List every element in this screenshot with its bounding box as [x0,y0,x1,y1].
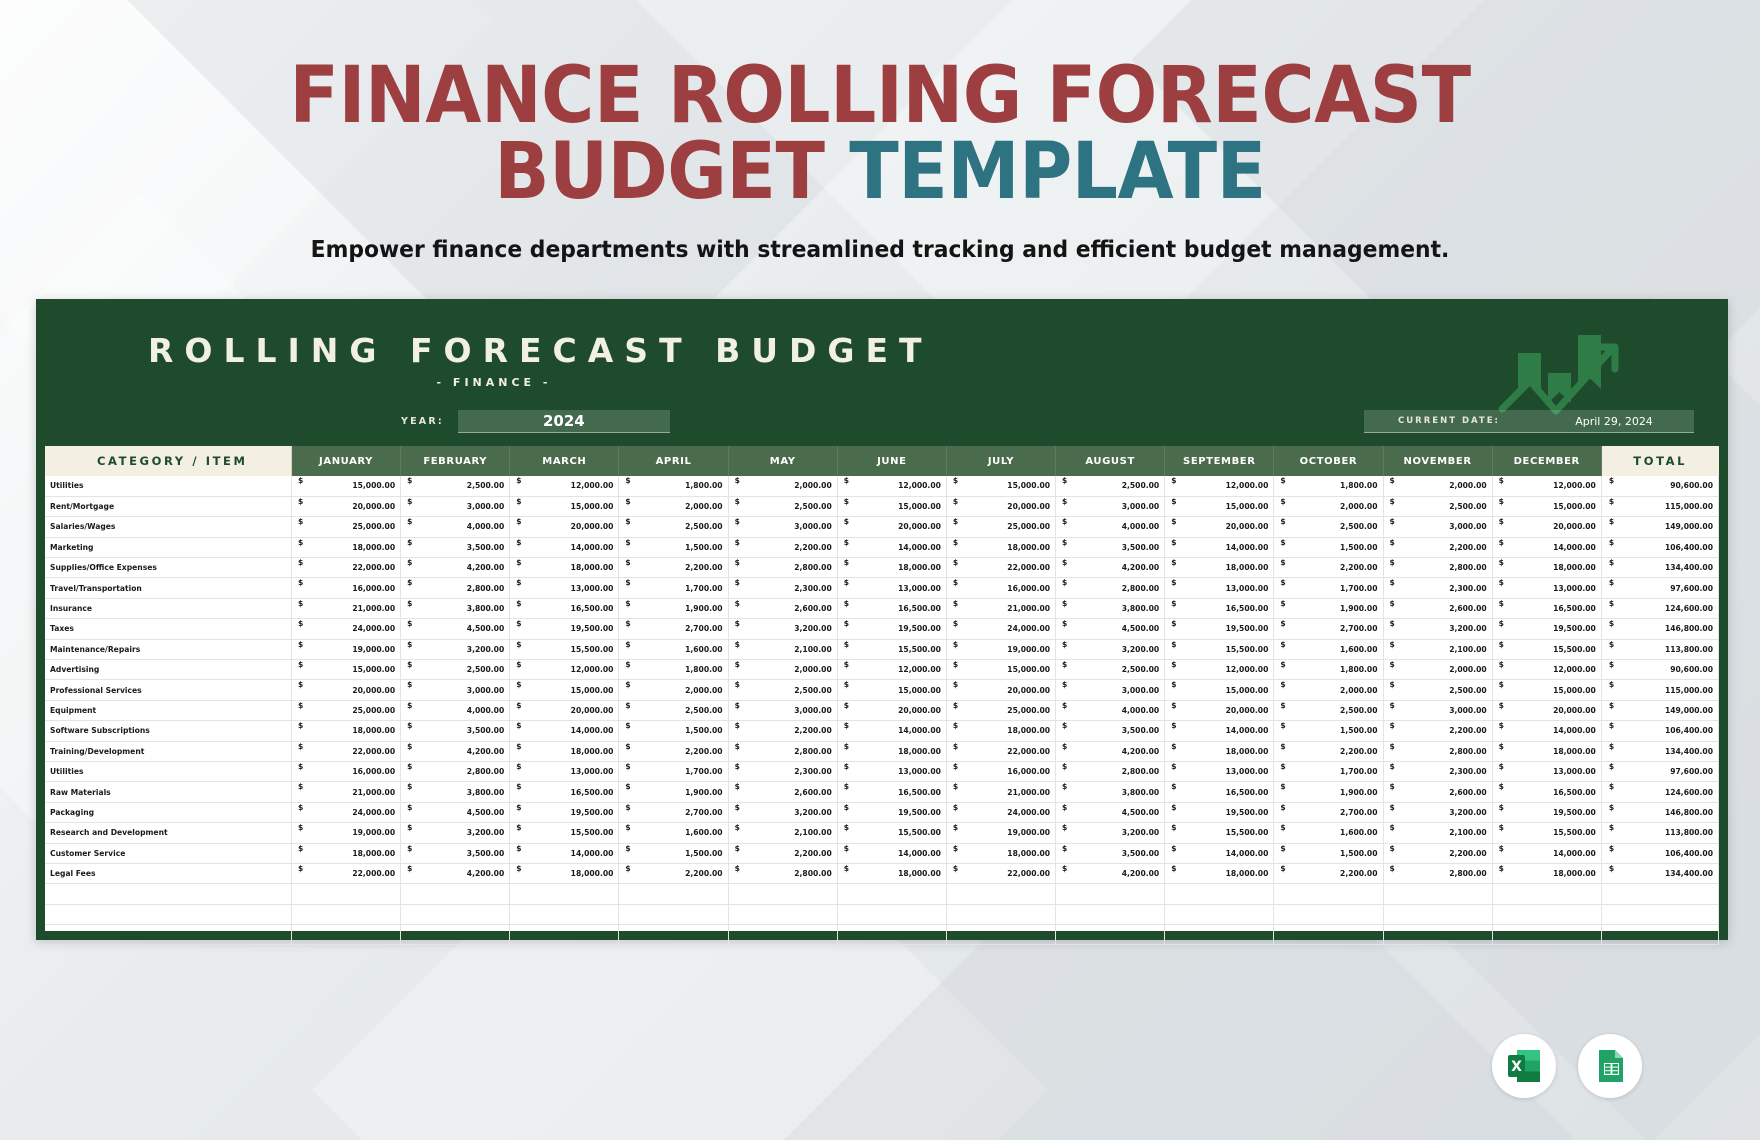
cell-amount[interactable]: $3,500.00 [401,537,510,557]
cell-amount[interactable]: $16,500.00 [1492,598,1601,618]
cell-amount[interactable]: $2,600.00 [728,782,837,802]
cell-total[interactable]: $90,600.00 [1601,660,1718,680]
cell-amount[interactable]: $2,300.00 [728,578,837,598]
cell-amount[interactable]: $16,500.00 [1492,782,1601,802]
cell-amount[interactable]: $25,000.00 [946,700,1055,720]
cell-amount[interactable]: $15,000.00 [837,680,946,700]
table-row[interactable]: Customer Service$18,000.00$3,500.00$14,0… [45,843,1719,863]
cell-amount[interactable]: $2,500.00 [728,680,837,700]
cell-amount[interactable]: $14,000.00 [1165,843,1274,863]
cell-amount[interactable]: $2,100.00 [728,639,837,659]
cell-total[interactable]: $106,400.00 [1601,721,1718,741]
table-row[interactable]: Utilities$16,000.00$2,800.00$13,000.00$1… [45,761,1719,781]
cell-amount[interactable]: $2,000.00 [728,476,837,496]
cell-empty[interactable] [1056,904,1165,924]
cell-empty[interactable] [510,904,619,924]
table-row-empty[interactable] [45,925,1719,945]
cell-amount[interactable]: $3,800.00 [401,782,510,802]
cell-amount[interactable]: $15,000.00 [1492,680,1601,700]
cell-amount[interactable]: $15,000.00 [291,476,400,496]
cell-amount[interactable]: $4,200.00 [1056,558,1165,578]
cell-amount[interactable]: $2,500.00 [1383,680,1492,700]
cell-amount[interactable]: $19,500.00 [1165,802,1274,822]
cell-amount[interactable]: $2,200.00 [619,863,728,883]
cell-amount[interactable]: $2,200.00 [1274,863,1383,883]
cell-amount[interactable]: $12,000.00 [837,476,946,496]
cell-amount[interactable]: $1,600.00 [1274,639,1383,659]
cell-empty[interactable] [291,884,400,904]
cell-empty[interactable] [510,925,619,945]
cell-amount[interactable]: $22,000.00 [946,863,1055,883]
cell-total[interactable]: $146,800.00 [1601,619,1718,639]
current-date-value[interactable]: April 29, 2024 [1534,415,1694,428]
cell-amount[interactable]: $4,500.00 [401,619,510,639]
column-header-july[interactable]: JULY [946,446,1055,476]
cell-amount[interactable]: $1,900.00 [619,598,728,618]
cell-empty[interactable] [401,884,510,904]
cell-amount[interactable]: $3,000.00 [1383,517,1492,537]
cell-amount[interactable]: $20,000.00 [837,700,946,720]
cell-total[interactable]: $134,400.00 [1601,741,1718,761]
cell-empty[interactable] [728,884,837,904]
cell-empty[interactable] [1274,904,1383,924]
cell-amount[interactable]: $3,800.00 [1056,782,1165,802]
cell-amount[interactable]: $14,000.00 [1492,537,1601,557]
cell-amount[interactable]: $15,000.00 [510,496,619,516]
cell-amount[interactable]: $15,500.00 [1492,823,1601,843]
cell-amount[interactable]: $22,000.00 [946,741,1055,761]
cell-amount[interactable]: $16,500.00 [1165,782,1274,802]
cell-amount[interactable]: $16,500.00 [837,782,946,802]
cell-amount[interactable]: $1,900.00 [1274,598,1383,618]
cell-amount[interactable]: $1,500.00 [619,537,728,557]
cell-amount[interactable]: $4,200.00 [401,558,510,578]
cell-amount[interactable]: $14,000.00 [1165,721,1274,741]
cell-empty[interactable] [946,904,1055,924]
cell-amount[interactable]: $2,500.00 [1056,660,1165,680]
cell-empty[interactable] [401,904,510,924]
cell-amount[interactable]: $24,000.00 [291,619,400,639]
cell-empty[interactable] [837,925,946,945]
cell-amount[interactable]: $13,000.00 [1165,578,1274,598]
cell-amount[interactable]: $1,700.00 [619,578,728,598]
cell-amount[interactable]: $2,800.00 [401,761,510,781]
cell-total[interactable]: $97,600.00 [1601,578,1718,598]
cell-amount[interactable]: $18,000.00 [1165,863,1274,883]
table-row[interactable]: Professional Services$20,000.00$3,000.00… [45,680,1719,700]
table-row[interactable]: Legal Fees$22,000.00$4,200.00$18,000.00$… [45,863,1719,883]
cell-category[interactable]: Utilities [45,476,291,496]
cell-amount[interactable]: $1,500.00 [619,843,728,863]
google-sheets-icon[interactable] [1578,1034,1642,1098]
cell-empty[interactable] [1056,925,1165,945]
cell-amount[interactable]: $25,000.00 [946,517,1055,537]
cell-category[interactable]: Customer Service [45,843,291,863]
cell-empty[interactable] [45,904,291,924]
cell-amount[interactable]: $2,800.00 [728,558,837,578]
column-header-may[interactable]: MAY [728,446,837,476]
table-row[interactable]: Research and Development$19,000.00$3,200… [45,823,1719,843]
cell-amount[interactable]: $20,000.00 [291,680,400,700]
year-input[interactable]: 2024 [458,410,670,433]
cell-amount[interactable]: $2,200.00 [619,558,728,578]
cell-amount[interactable]: $24,000.00 [946,802,1055,822]
cell-amount[interactable]: $18,000.00 [291,537,400,557]
cell-empty[interactable] [291,904,400,924]
cell-category[interactable]: Insurance [45,598,291,618]
cell-total[interactable]: $97,600.00 [1601,761,1718,781]
cell-amount[interactable]: $4,200.00 [1056,741,1165,761]
cell-amount[interactable]: $16,000.00 [946,578,1055,598]
cell-empty[interactable] [728,904,837,924]
cell-amount[interactable]: $4,000.00 [1056,517,1165,537]
cell-amount[interactable]: $2,200.00 [1274,558,1383,578]
cell-total[interactable]: $115,000.00 [1601,680,1718,700]
cell-amount[interactable]: $3,200.00 [1056,639,1165,659]
cell-amount[interactable]: $2,200.00 [1383,721,1492,741]
cell-category[interactable]: Raw Materials [45,782,291,802]
cell-amount[interactable]: $12,000.00 [1165,476,1274,496]
table-row[interactable]: Supplies/Office Expenses$22,000.00$4,200… [45,558,1719,578]
cell-amount[interactable]: $1,800.00 [1274,660,1383,680]
cell-amount[interactable]: $2,500.00 [1383,496,1492,516]
cell-amount[interactable]: $13,000.00 [837,761,946,781]
cell-amount[interactable]: $3,000.00 [1383,700,1492,720]
cell-amount[interactable]: $1,600.00 [619,639,728,659]
cell-amount[interactable]: $15,500.00 [1165,639,1274,659]
cell-amount[interactable]: $4,500.00 [401,802,510,822]
cell-total[interactable]: $124,600.00 [1601,598,1718,618]
table-row[interactable]: Equipment$25,000.00$4,000.00$20,000.00$2… [45,700,1719,720]
cell-category[interactable]: Training/Development [45,741,291,761]
cell-empty[interactable] [1274,925,1383,945]
cell-amount[interactable]: $2,700.00 [619,619,728,639]
cell-amount[interactable]: $20,000.00 [1492,517,1601,537]
cell-amount[interactable]: $18,000.00 [1492,863,1601,883]
cell-category[interactable]: Packaging [45,802,291,822]
cell-amount[interactable]: $19,000.00 [946,823,1055,843]
cell-amount[interactable]: $3,200.00 [728,802,837,822]
cell-amount[interactable]: $13,000.00 [837,578,946,598]
cell-category[interactable]: Utilities [45,761,291,781]
cell-amount[interactable]: $19,500.00 [1165,619,1274,639]
cell-amount[interactable]: $12,000.00 [1492,476,1601,496]
cell-amount[interactable]: $15,000.00 [1165,680,1274,700]
cell-category[interactable]: Travel/Transportation [45,578,291,598]
cell-amount[interactable]: $18,000.00 [946,537,1055,557]
cell-amount[interactable]: $15,000.00 [510,680,619,700]
cell-amount[interactable]: $19,500.00 [510,802,619,822]
cell-amount[interactable]: $4,000.00 [401,700,510,720]
cell-amount[interactable]: $20,000.00 [510,700,619,720]
cell-amount[interactable]: $22,000.00 [291,863,400,883]
cell-amount[interactable]: $12,000.00 [1492,660,1601,680]
cell-amount[interactable]: $2,200.00 [1383,843,1492,863]
cell-amount[interactable]: $13,000.00 [1165,761,1274,781]
cell-amount[interactable]: $15,000.00 [1165,496,1274,516]
cell-amount[interactable]: $16,500.00 [1165,598,1274,618]
cell-amount[interactable]: $14,000.00 [510,843,619,863]
cell-category[interactable]: Legal Fees [45,863,291,883]
cell-amount[interactable]: $3,200.00 [1383,802,1492,822]
column-header-august[interactable]: AUGUST [1056,446,1165,476]
cell-amount[interactable]: $21,000.00 [946,598,1055,618]
table-row[interactable]: Training/Development$22,000.00$4,200.00$… [45,741,1719,761]
cell-category[interactable]: Rent/Mortgage [45,496,291,516]
cell-amount[interactable]: $13,000.00 [1492,578,1601,598]
cell-empty[interactable] [619,925,728,945]
cell-amount[interactable]: $3,000.00 [728,700,837,720]
cell-empty[interactable] [45,925,291,945]
cell-amount[interactable]: $4,200.00 [401,741,510,761]
cell-amount[interactable]: $1,800.00 [1274,476,1383,496]
cell-amount[interactable]: $2,800.00 [1383,741,1492,761]
cell-amount[interactable]: $1,500.00 [1274,537,1383,557]
column-header-total[interactable]: TOTAL [1601,446,1718,476]
cell-amount[interactable]: $2,500.00 [401,476,510,496]
cell-amount[interactable]: $19,500.00 [837,802,946,822]
cell-amount[interactable]: $1,600.00 [619,823,728,843]
cell-empty[interactable] [837,884,946,904]
cell-amount[interactable]: $19,000.00 [291,823,400,843]
cell-amount[interactable]: $18,000.00 [510,558,619,578]
cell-amount[interactable]: $22,000.00 [291,558,400,578]
cell-empty[interactable] [1383,925,1492,945]
cell-total[interactable]: $149,000.00 [1601,700,1718,720]
cell-amount[interactable]: $20,000.00 [946,496,1055,516]
cell-amount[interactable]: $14,000.00 [510,537,619,557]
cell-amount[interactable]: $3,000.00 [401,680,510,700]
cell-amount[interactable]: $19,500.00 [510,619,619,639]
cell-amount[interactable]: $14,000.00 [837,843,946,863]
cell-amount[interactable]: $21,000.00 [946,782,1055,802]
cell-amount[interactable]: $1,700.00 [619,761,728,781]
cell-amount[interactable]: $2,500.00 [619,517,728,537]
cell-amount[interactable]: $18,000.00 [1492,558,1601,578]
cell-amount[interactable]: $18,000.00 [1492,741,1601,761]
cell-amount[interactable]: $15,000.00 [1492,496,1601,516]
cell-empty[interactable] [619,884,728,904]
cell-amount[interactable]: $20,000.00 [510,517,619,537]
cell-category[interactable]: Software Subscriptions [45,721,291,741]
cell-amount[interactable]: $20,000.00 [837,517,946,537]
cell-amount[interactable]: $4,500.00 [1056,619,1165,639]
cell-empty[interactable] [1492,884,1601,904]
cell-amount[interactable]: $1,500.00 [1274,843,1383,863]
cell-amount[interactable]: $18,000.00 [510,863,619,883]
cell-amount[interactable]: $2,500.00 [1274,700,1383,720]
cell-category[interactable]: Maintenance/Repairs [45,639,291,659]
cell-empty[interactable] [728,925,837,945]
cell-empty[interactable] [619,904,728,924]
cell-amount[interactable]: $12,000.00 [510,476,619,496]
cell-empty[interactable] [946,925,1055,945]
cell-amount[interactable]: $16,500.00 [510,782,619,802]
cell-amount[interactable]: $2,600.00 [1383,782,1492,802]
cell-amount[interactable]: $2,700.00 [619,802,728,822]
cell-amount[interactable]: $16,500.00 [510,598,619,618]
cell-amount[interactable]: $2,500.00 [401,660,510,680]
cell-amount[interactable]: $4,000.00 [1056,700,1165,720]
cell-empty[interactable] [1383,884,1492,904]
cell-amount[interactable]: $16,000.00 [291,578,400,598]
cell-amount[interactable]: $1,900.00 [619,782,728,802]
cell-amount[interactable]: $3,200.00 [401,639,510,659]
cell-amount[interactable]: $3,200.00 [401,823,510,843]
cell-empty[interactable] [1165,904,1274,924]
cell-total[interactable]: $115,000.00 [1601,496,1718,516]
cell-amount[interactable]: $14,000.00 [510,721,619,741]
cell-amount[interactable]: $14,000.00 [1492,721,1601,741]
cell-empty[interactable] [510,884,619,904]
cell-amount[interactable]: $15,500.00 [837,823,946,843]
cell-amount[interactable]: $2,200.00 [619,741,728,761]
cell-amount[interactable]: $15,000.00 [837,496,946,516]
cell-amount[interactable]: $2,000.00 [1383,660,1492,680]
cell-amount[interactable]: $18,000.00 [837,741,946,761]
cell-amount[interactable]: $13,000.00 [510,761,619,781]
cell-amount[interactable]: $15,500.00 [510,823,619,843]
cell-amount[interactable]: $1,900.00 [1274,782,1383,802]
cell-amount[interactable]: $2,600.00 [728,598,837,618]
cell-amount[interactable]: $18,000.00 [291,721,400,741]
cell-amount[interactable]: $2,000.00 [619,680,728,700]
cell-amount[interactable]: $3,200.00 [1383,619,1492,639]
table-row[interactable]: Utilities$15,000.00$2,500.00$12,000.00$1… [45,476,1719,496]
cell-amount[interactable]: $12,000.00 [1165,660,1274,680]
cell-empty[interactable] [1601,925,1718,945]
cell-amount[interactable]: $3,500.00 [1056,843,1165,863]
cell-amount[interactable]: $2,100.00 [1383,823,1492,843]
table-row[interactable]: Marketing$18,000.00$3,500.00$14,000.00$1… [45,537,1719,557]
cell-amount[interactable]: $2,200.00 [1383,537,1492,557]
cell-amount[interactable]: $2,500.00 [1274,517,1383,537]
cell-amount[interactable]: $16,500.00 [837,598,946,618]
table-row[interactable]: Software Subscriptions$18,000.00$3,500.0… [45,721,1719,741]
cell-amount[interactable]: $3,500.00 [1056,721,1165,741]
cell-amount[interactable]: $3,000.00 [1056,496,1165,516]
table-row[interactable]: Travel/Transportation$16,000.00$2,800.00… [45,578,1719,598]
cell-amount[interactable]: $4,200.00 [1056,863,1165,883]
cell-total[interactable]: $106,400.00 [1601,537,1718,557]
table-row[interactable]: Raw Materials$21,000.00$3,800.00$16,500.… [45,782,1719,802]
cell-empty[interactable] [946,884,1055,904]
cell-amount[interactable]: $2,200.00 [728,843,837,863]
cell-empty[interactable] [837,904,946,924]
cell-amount[interactable]: $4,000.00 [401,517,510,537]
cell-amount[interactable]: $2,300.00 [1383,578,1492,598]
cell-amount[interactable]: $15,500.00 [1492,639,1601,659]
cell-total[interactable]: $124,600.00 [1601,782,1718,802]
cell-amount[interactable]: $2,500.00 [619,700,728,720]
cell-amount[interactable]: $13,000.00 [1492,761,1601,781]
cell-empty[interactable] [1601,904,1718,924]
cell-empty[interactable] [1165,884,1274,904]
cell-amount[interactable]: $2,100.00 [1383,639,1492,659]
cell-total[interactable]: $134,400.00 [1601,863,1718,883]
cell-empty[interactable] [1165,925,1274,945]
cell-amount[interactable]: $19,500.00 [1492,802,1601,822]
cell-empty[interactable] [401,925,510,945]
table-row[interactable]: Packaging$24,000.00$4,500.00$19,500.00$2… [45,802,1719,822]
column-header-april[interactable]: APRIL [619,446,728,476]
cell-amount[interactable]: $15,000.00 [946,660,1055,680]
column-header-december[interactable]: DECEMBER [1492,446,1601,476]
cell-amount[interactable]: $2,000.00 [1274,680,1383,700]
cell-amount[interactable]: $2,000.00 [1274,496,1383,516]
cell-category[interactable]: Marketing [45,537,291,557]
cell-amount[interactable]: $2,300.00 [1383,761,1492,781]
cell-amount[interactable]: $2,700.00 [1274,619,1383,639]
cell-amount[interactable]: $3,200.00 [728,619,837,639]
cell-amount[interactable]: $24,000.00 [291,802,400,822]
cell-category[interactable]: Research and Development [45,823,291,843]
cell-amount[interactable]: $22,000.00 [291,741,400,761]
cell-empty[interactable] [1056,884,1165,904]
cell-amount[interactable]: $3,500.00 [1056,537,1165,557]
cell-amount[interactable]: $18,000.00 [510,741,619,761]
table-row[interactable]: Taxes$24,000.00$4,500.00$19,500.00$2,700… [45,619,1719,639]
cell-total[interactable]: $90,600.00 [1601,476,1718,496]
cell-amount[interactable]: $15,000.00 [291,660,400,680]
cell-amount[interactable]: $2,800.00 [1056,578,1165,598]
cell-amount[interactable]: $19,500.00 [837,619,946,639]
cell-amount[interactable]: $2,700.00 [1274,802,1383,822]
cell-amount[interactable]: $20,000.00 [1492,700,1601,720]
cell-category[interactable]: Taxes [45,619,291,639]
cell-amount[interactable]: $2,800.00 [728,863,837,883]
cell-amount[interactable]: $22,000.00 [946,558,1055,578]
cell-amount[interactable]: $18,000.00 [837,863,946,883]
cell-amount[interactable]: $2,600.00 [1383,598,1492,618]
table-row[interactable]: Advertising$15,000.00$2,500.00$12,000.00… [45,660,1719,680]
cell-amount[interactable]: $2,800.00 [728,741,837,761]
cell-empty[interactable] [45,884,291,904]
cell-empty[interactable] [1492,925,1601,945]
cell-amount[interactable]: $1,600.00 [1274,823,1383,843]
column-header-november[interactable]: NOVEMBER [1383,446,1492,476]
cell-amount[interactable]: $24,000.00 [946,619,1055,639]
cell-total[interactable]: $149,000.00 [1601,517,1718,537]
column-header-february[interactable]: FEBRUARY [401,446,510,476]
cell-amount[interactable]: $14,000.00 [1165,537,1274,557]
cell-amount[interactable]: $15,500.00 [1165,823,1274,843]
cell-empty[interactable] [1274,884,1383,904]
cell-amount[interactable]: $19,500.00 [1492,619,1601,639]
cell-category[interactable]: Advertising [45,660,291,680]
cell-amount[interactable]: $3,500.00 [401,721,510,741]
cell-total[interactable]: $113,800.00 [1601,823,1718,843]
cell-amount[interactable]: $14,000.00 [837,721,946,741]
cell-amount[interactable]: $18,000.00 [946,721,1055,741]
cell-amount[interactable]: $2,000.00 [728,660,837,680]
cell-total[interactable]: $134,400.00 [1601,558,1718,578]
cell-amount[interactable]: $15,500.00 [510,639,619,659]
cell-amount[interactable]: $14,000.00 [1492,843,1601,863]
cell-amount[interactable]: $19,000.00 [291,639,400,659]
cell-amount[interactable]: $14,000.00 [837,537,946,557]
cell-amount[interactable]: $2,200.00 [1274,741,1383,761]
cell-amount[interactable]: $1,500.00 [1274,721,1383,741]
cell-amount[interactable]: $2,800.00 [1056,761,1165,781]
cell-amount[interactable]: $20,000.00 [1165,700,1274,720]
cell-category[interactable]: Salaries/Wages [45,517,291,537]
cell-total[interactable]: $146,800.00 [1601,802,1718,822]
cell-amount[interactable]: $3,800.00 [401,598,510,618]
table-row-empty[interactable] [45,884,1719,904]
cell-amount[interactable]: $2,100.00 [728,823,837,843]
cell-amount[interactable]: $16,000.00 [291,761,400,781]
